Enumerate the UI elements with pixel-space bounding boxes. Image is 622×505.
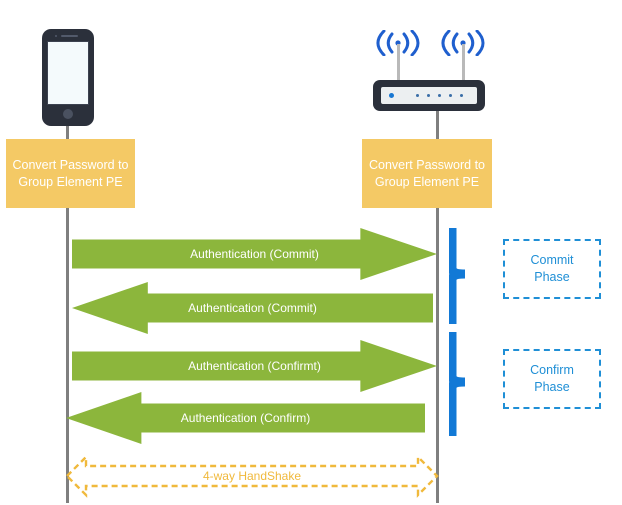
handshake-label: 4-way HandShake (197, 469, 307, 483)
smartphone-icon (42, 29, 94, 126)
message-arrow-commit-request: Authentication (Commit) (72, 228, 437, 280)
router-status-led-4 (449, 94, 452, 97)
phone-screen (47, 41, 89, 105)
message-arrow-commit-response: Authentication (Commit) (72, 282, 433, 334)
phase-label-commit: Commit Phase (503, 239, 601, 299)
phone-camera (55, 35, 57, 37)
router-power-led (389, 93, 394, 98)
router-status-led-5 (460, 94, 463, 97)
router-status-led-3 (438, 94, 441, 97)
phase-commit-line2: Phase (530, 269, 573, 286)
message-label-confirm-response: Authentication (Confirm) (181, 411, 310, 425)
router-status-led-2 (427, 94, 430, 97)
message-label-commit-request: Authentication (Commit) (190, 247, 319, 261)
phone-speaker (61, 35, 78, 37)
handshake-double-arrow: 4-way HandShake (64, 450, 440, 502)
brace-confirm-phase (449, 332, 481, 436)
brace-commit-phase (449, 228, 481, 324)
phone-home-button (63, 109, 73, 119)
process-box-client-convert-password: Convert Password to Group Element PE (6, 139, 135, 208)
router-status-led-1 (416, 94, 419, 97)
message-label-confirm-request: Authentication (Confirmt) (188, 359, 321, 373)
phase-confirm-line2: Phase (530, 379, 574, 396)
phase-label-confirm: Confirm Phase (503, 349, 601, 409)
phase-confirm-line1: Confirm (530, 362, 574, 379)
message-arrow-confirm-response: Authentication (Confirm) (66, 392, 425, 444)
process-box-ap-convert-password: Convert Password to Group Element PE (362, 139, 492, 208)
wireless-router-icon (373, 24, 485, 112)
message-arrow-confirm-request: Authentication (Confirmt) (72, 340, 437, 392)
sae-authentication-diagram: Convert Password to Group Element PE Con… (0, 0, 622, 505)
message-label-commit-response: Authentication (Commit) (188, 301, 317, 315)
phase-commit-line1: Commit (530, 252, 573, 269)
